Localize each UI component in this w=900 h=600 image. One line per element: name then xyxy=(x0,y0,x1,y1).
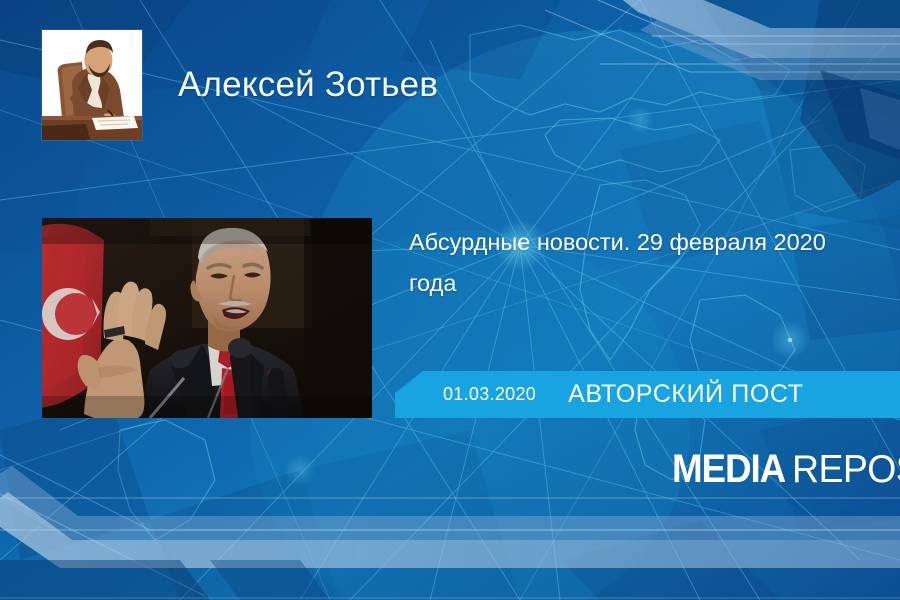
article-photo-illustration xyxy=(42,218,372,418)
avatar-illustration xyxy=(42,30,142,140)
post-date: 01.03.2020 xyxy=(443,384,536,405)
logo-repost-text: REPOST xyxy=(792,448,900,492)
article-photo xyxy=(42,218,372,418)
avatar xyxy=(42,30,142,140)
post-type-label: АВТОРСКИЙ ПОСТ xyxy=(568,380,803,409)
author-header: Алексей Зотьев xyxy=(42,30,438,140)
author-name: Алексей Зотьев xyxy=(178,65,438,105)
article-headline: Абсурдные новости. 29 февраля 2020 года xyxy=(409,222,871,304)
post-meta-bar: 01.03.2020 АВТОРСКИЙ ПОСТ xyxy=(395,371,900,418)
logo-media-text: MEDIA xyxy=(672,447,785,492)
article-cover-card: Алексей Зотьев xyxy=(0,0,900,600)
mediarepost-logo[interactable]: MEDIA REPOST xyxy=(672,447,900,492)
